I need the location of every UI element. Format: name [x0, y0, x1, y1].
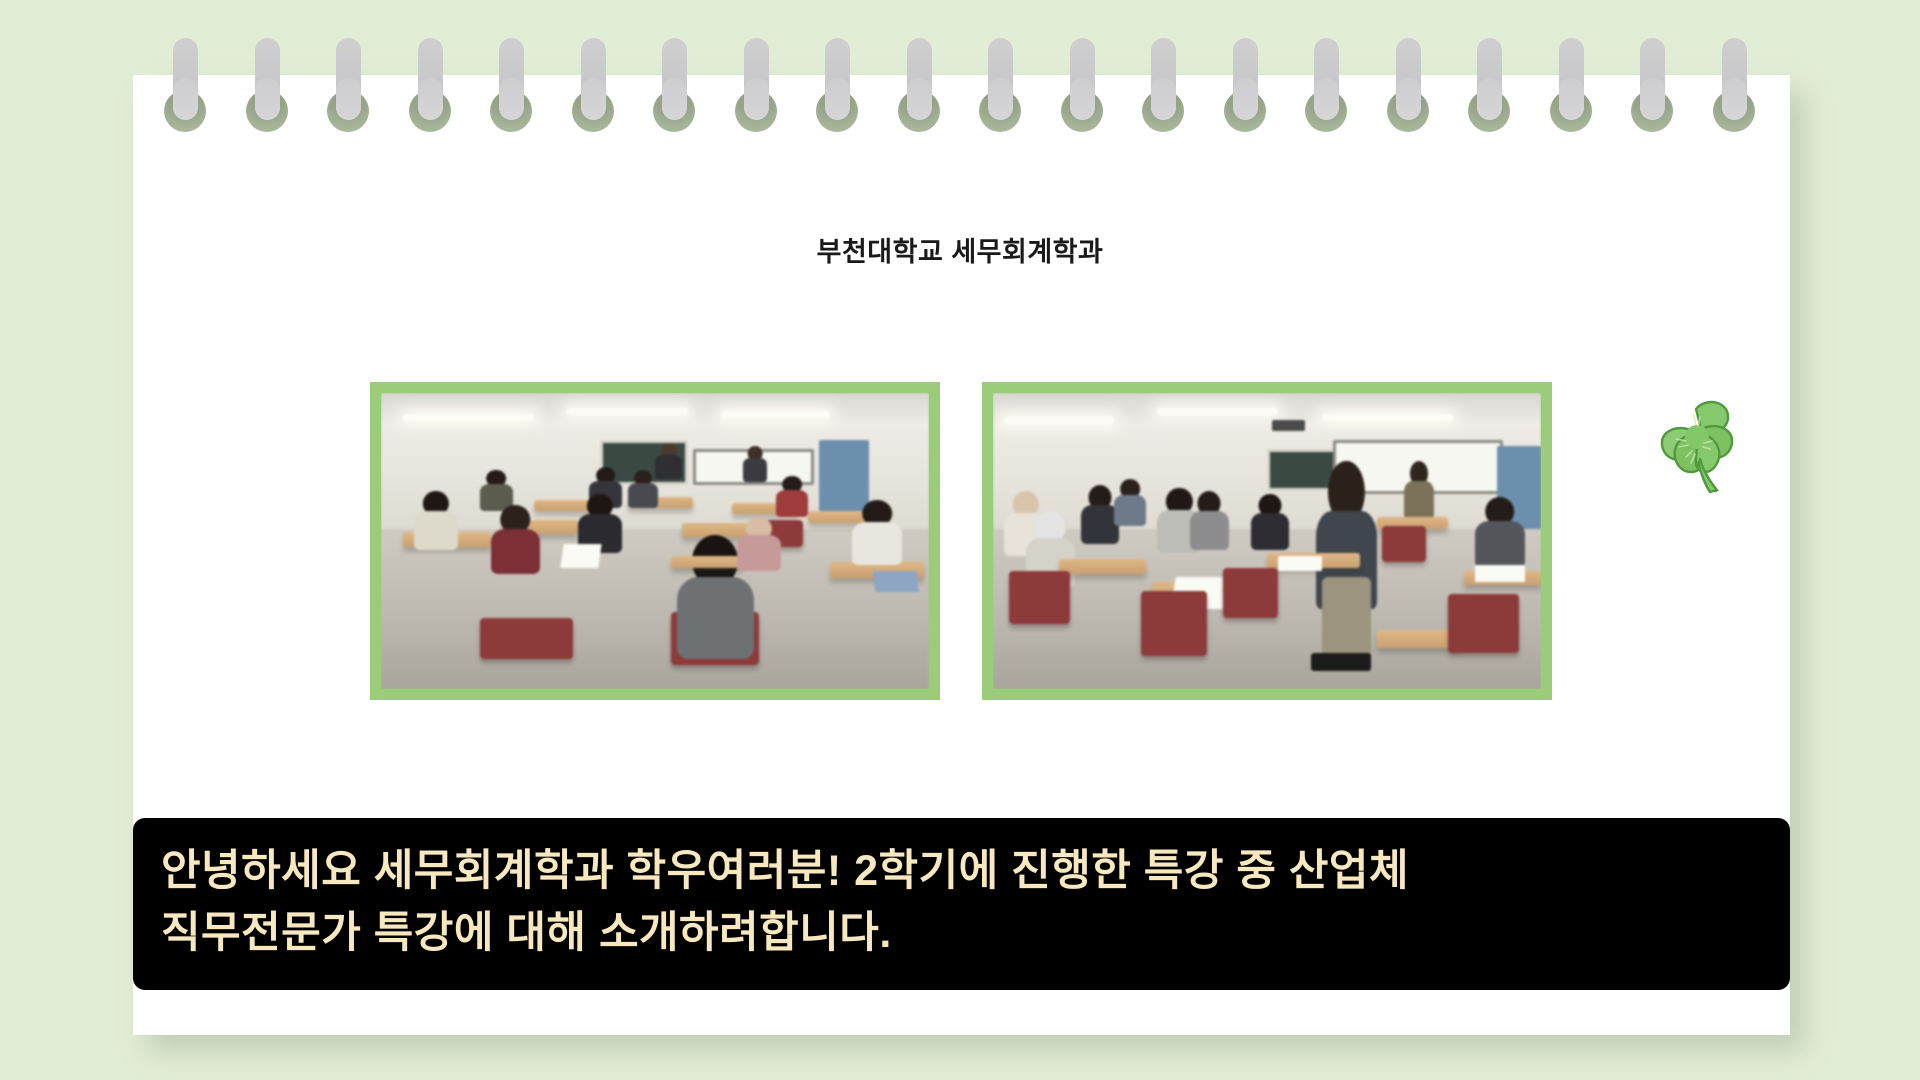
four-leaf-clover-icon	[1646, 393, 1751, 503]
photo-right-image	[993, 393, 1541, 689]
department-title: 부천대학교 세무회계학과	[0, 230, 1920, 269]
caption-line-2: 직무전문가 특강에 대해 소개하려합니다.	[161, 902, 1762, 964]
notepad-sheet: 안녕하세요 세무회계학과 학우여러분! 2학기에 진행한 특강 중 산업체 직무…	[133, 75, 1790, 1035]
classroom-lecture-photo-left	[370, 382, 940, 700]
classroom-lecture-photo-right	[982, 382, 1552, 700]
caption-bar: 안녕하세요 세무회계학과 학우여러분! 2학기에 진행한 특강 중 산업체 직무…	[133, 818, 1790, 990]
caption-line-1: 안녕하세요 세무회계학과 학우여러분! 2학기에 진행한 특강 중 산업체	[161, 840, 1762, 902]
photo-left-image	[381, 393, 929, 689]
